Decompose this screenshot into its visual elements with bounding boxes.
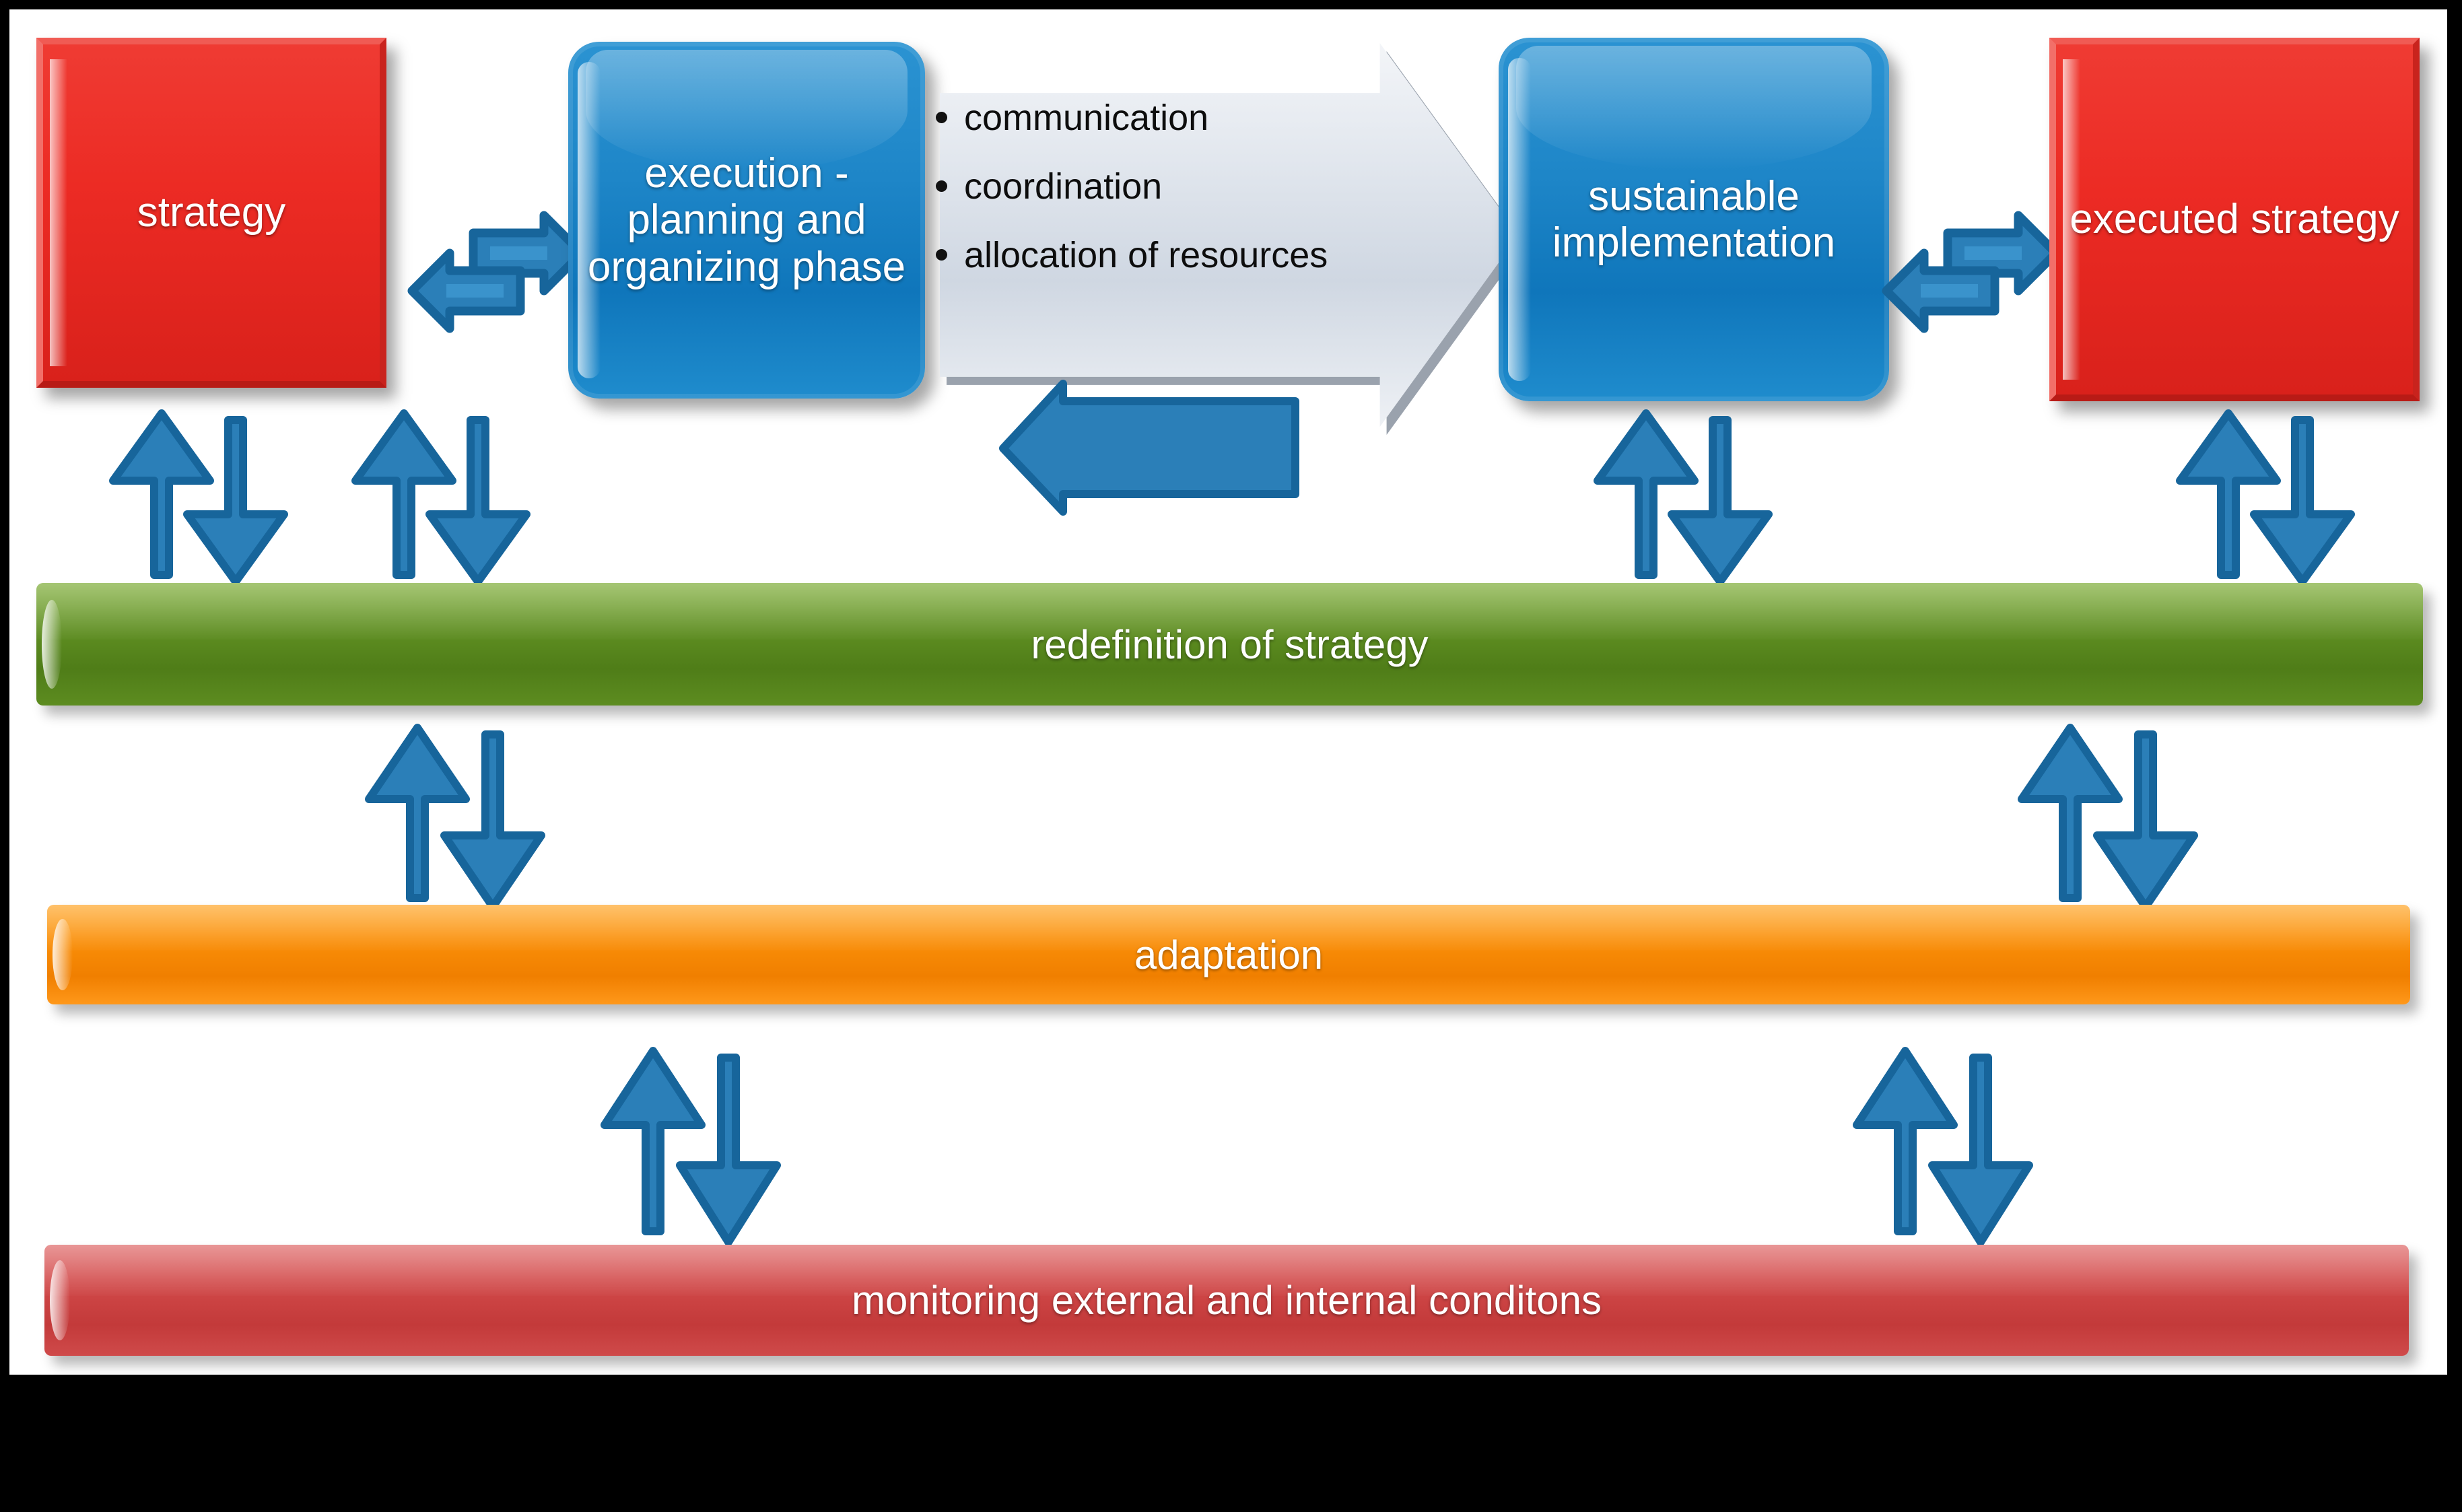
node-executed-strategy-label: executed strategy xyxy=(2070,196,2399,242)
arrow-pair-executed-redefinition xyxy=(2170,407,2359,588)
arrow-pair-strategy-redefinition xyxy=(104,407,292,588)
arrow-pair-adaptation-monitoring-left xyxy=(595,1043,797,1251)
bullet-item: communication xyxy=(933,97,1328,139)
arrow-pair-redefinition-adaptation-right xyxy=(2012,720,2214,915)
chevron-bullet-list: communication coordination allocation of… xyxy=(933,97,1328,276)
node-executed-strategy[interactable]: executed strategy xyxy=(2049,38,2420,401)
arrow-sustainable-executed xyxy=(1884,211,2059,333)
arrow-pair-sustainable-redefinition xyxy=(1588,407,1777,588)
arrow-pair-adaptation-monitoring-right xyxy=(1847,1043,2049,1251)
bar-adaptation[interactable]: adaptation xyxy=(47,905,2410,1004)
bullet-item: allocation of resources xyxy=(933,234,1328,276)
bar-monitoring-conditions[interactable]: monitoring external and internal condito… xyxy=(44,1245,2409,1356)
diagram-stage: strategy execution - planning and organi… xyxy=(9,9,2447,1375)
node-sustainable-implementation[interactable]: sustainable implementation xyxy=(1499,38,1889,401)
bar-redefinition-label: redefinition of strategy xyxy=(1031,621,1428,668)
node-strategy-label: strategy xyxy=(137,189,286,236)
arrow-pair-redefinition-adaptation-left xyxy=(360,720,561,915)
bar-redefinition-of-strategy[interactable]: redefinition of strategy xyxy=(36,583,2423,706)
bar-adaptation-label: adaptation xyxy=(1134,932,1323,978)
node-execution[interactable]: execution - planning and organizing phas… xyxy=(568,42,925,399)
node-execution-label: execution - planning and organizing phas… xyxy=(568,150,925,290)
arrow-strategy-execution xyxy=(409,211,584,333)
node-strategy[interactable]: strategy xyxy=(36,38,386,388)
arrow-pair-execution-redefinition xyxy=(346,407,535,588)
node-sustainable-implementation-label: sustainable implementation xyxy=(1499,173,1889,267)
bullet-item: coordination xyxy=(933,166,1328,207)
bar-monitoring-label: monitoring external and internal condito… xyxy=(852,1277,1602,1324)
diagram-canvas: strategy execution - planning and organi… xyxy=(0,0,2462,1512)
arrow-feedback-left xyxy=(999,386,1315,514)
